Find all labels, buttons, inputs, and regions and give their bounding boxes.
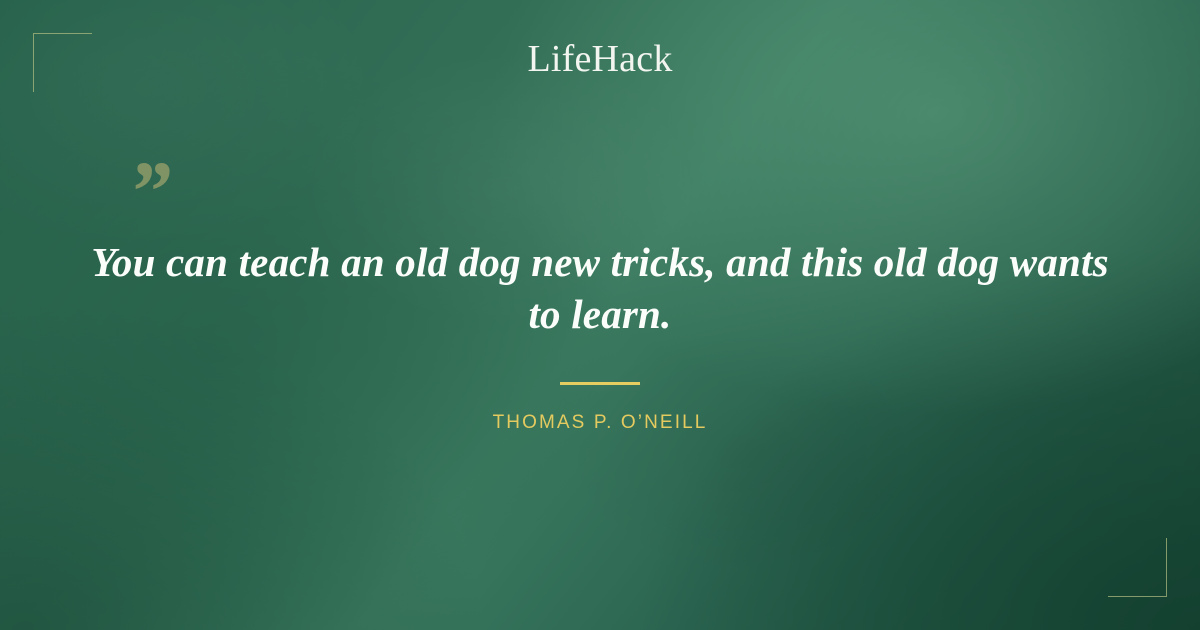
quotation-mark-icon: ” xyxy=(128,148,171,234)
quote-author: Thomas P. O’Neill xyxy=(0,412,1200,434)
divider xyxy=(560,382,640,385)
quote-text: You can teach an old dog new tricks, and… xyxy=(88,236,1112,341)
quote-card: LifeHack ” You can teach an old dog new … xyxy=(0,0,1200,630)
brand-logo: LifeHack xyxy=(0,40,1200,78)
corner-bracket-bottom-right-icon xyxy=(1108,538,1167,597)
